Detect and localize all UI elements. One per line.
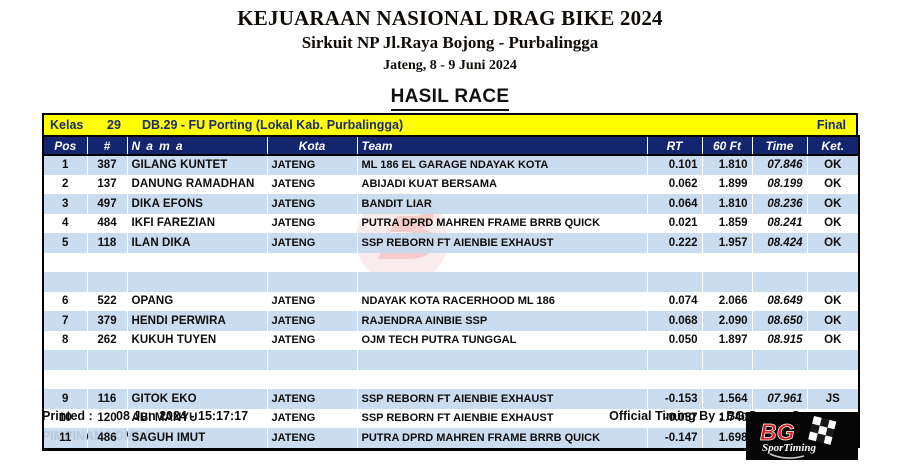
cell-kota: JATENG xyxy=(267,428,357,448)
cell-pos: 8 xyxy=(43,331,87,351)
class-stage-badge: Final xyxy=(817,118,856,132)
cell-rt: 0.068 xyxy=(647,311,702,331)
cell-ket: OK xyxy=(807,331,859,351)
cell-time: 08.649 xyxy=(752,292,807,312)
cell-ft60: 1.897 xyxy=(702,331,752,351)
column-header-team[interactable]: Team xyxy=(357,136,647,155)
cell-pos: 4 xyxy=(43,214,87,234)
cell-team: NDAYAK KOTA RACERHOOD ML 186 xyxy=(357,292,647,312)
cell-team: OJM TECH PUTRA TUNGGAL xyxy=(357,331,647,351)
column-header-num[interactable]: # xyxy=(87,136,127,155)
results-sheet: Kelas 29 DB.29 - FU Porting (Lokal Kab. … xyxy=(42,113,858,451)
cell-time: 08.424 xyxy=(752,233,807,253)
cell-rt xyxy=(647,272,702,292)
cell-time: 08.241 xyxy=(752,214,807,234)
cell-rt: 0.222 xyxy=(647,233,702,253)
cell-num: 522 xyxy=(87,292,127,312)
event-date: Jateng, 8 - 9 Juni 2024 xyxy=(0,57,900,75)
cell-kota: JATENG xyxy=(267,155,357,175)
cell-pos: 5 xyxy=(43,233,87,253)
cell-time: 08.650 xyxy=(752,311,807,331)
cell-name: GITOK EKO xyxy=(127,389,267,409)
cell-ket xyxy=(807,253,859,273)
cell-time xyxy=(752,350,807,370)
cell-team: RAJENDRA AINBIE SSP xyxy=(357,311,647,331)
cell-kota: JATENG xyxy=(267,409,357,429)
cell-ft60 xyxy=(702,350,752,370)
document-header: KEJUARAAN NASIONAL DRAG BIKE 2024 Sirkui… xyxy=(0,0,900,111)
cell-num: 262 xyxy=(87,331,127,351)
cell-ket: OK xyxy=(807,214,859,234)
cell-team: ML 186 EL GARAGE NDAYAK KOTA xyxy=(357,155,647,175)
cell-num: 497 xyxy=(87,194,127,214)
class-number: 29 xyxy=(94,118,134,132)
table-row[interactable]: 9116GITOK EKOJATENGSSP REBORN FT AIENBIE… xyxy=(43,389,859,409)
cell-kota: JATENG xyxy=(267,214,357,234)
table-row[interactable]: 11486SAGUH IMUTJATENGPUTRA DPRD MAHREN F… xyxy=(43,428,859,448)
column-header-pos[interactable]: Pos xyxy=(43,136,87,155)
table-row[interactable]: 10120ABI MANYUJATENGSSP REBORN FT AIENBI… xyxy=(43,409,859,429)
cell-name xyxy=(127,350,267,370)
cell-name xyxy=(127,272,267,292)
cell-team xyxy=(357,370,647,390)
cell-name xyxy=(127,253,267,273)
cell-ket xyxy=(807,272,859,292)
table-bottom-border xyxy=(42,448,858,451)
cell-num xyxy=(87,272,127,292)
cell-ket: JS xyxy=(807,389,859,409)
cell-ft60: 2.090 xyxy=(702,311,752,331)
cell-time: 07.846 xyxy=(752,155,807,175)
cell-ket: OK xyxy=(807,194,859,214)
cell-rt: 0.074 xyxy=(647,292,702,312)
cell-kota: JATENG xyxy=(267,233,357,253)
cell-pos xyxy=(43,253,87,273)
cell-kota: JATENG xyxy=(267,311,357,331)
cell-pos xyxy=(43,272,87,292)
column-header-rt[interactable]: RT xyxy=(647,136,702,155)
results-table: Pos # N a m a Kota Team RT 60 Ft Time Ke… xyxy=(42,135,860,448)
cell-pos: 6 xyxy=(43,292,87,312)
cell-num: 120 xyxy=(87,409,127,429)
cell-num: 387 xyxy=(87,155,127,175)
cell-time xyxy=(752,370,807,390)
cell-kota xyxy=(267,253,357,273)
cell-time: 08.236 xyxy=(752,194,807,214)
cell-name: DIKA EFONS xyxy=(127,194,267,214)
cell-name: IKFI FAREZIAN xyxy=(127,214,267,234)
table-row[interactable]: 8262KUKUH TUYENJATENGOJM TECH PUTRA TUNG… xyxy=(43,331,859,351)
cell-pos: 1 xyxy=(43,155,87,175)
cell-num xyxy=(87,253,127,273)
cell-time: 07.961 xyxy=(752,389,807,409)
table-spacer-row xyxy=(43,272,859,292)
cell-ft60 xyxy=(702,272,752,292)
section-title: HASIL RACE xyxy=(391,86,510,111)
cell-ket: OK xyxy=(807,233,859,253)
table-row[interactable]: 2137DANUNG RAMADHANJATENGABIJADI KUAT BE… xyxy=(43,175,859,195)
class-label: Kelas xyxy=(44,118,94,132)
cell-pos xyxy=(43,350,87,370)
page-title: KEJUARAAN NASIONAL DRAG BIKE 2024 xyxy=(0,6,900,30)
table-spacer-row xyxy=(43,370,859,390)
table-header-row: Pos # N a m a Kota Team RT 60 Ft Time Ke… xyxy=(43,136,859,155)
cell-num: 379 xyxy=(87,311,127,331)
cell-ket: OK xyxy=(807,175,859,195)
cell-num: 118 xyxy=(87,233,127,253)
cell-team: PUTRA DPRD MAHREN FRAME BRRB QUICK xyxy=(357,214,647,234)
cell-pos: 2 xyxy=(43,175,87,195)
cell-num: 137 xyxy=(87,175,127,195)
cell-ft60: 2.066 xyxy=(702,292,752,312)
cell-ket: OK xyxy=(807,292,859,312)
cell-team xyxy=(357,272,647,292)
cell-ket: OK xyxy=(807,155,859,175)
cell-rt: 0.021 xyxy=(647,214,702,234)
cell-rt: 0.050 xyxy=(647,331,702,351)
cell-pos xyxy=(43,370,87,390)
column-header-ket[interactable]: Ket. xyxy=(807,136,859,155)
cell-ft60: 1.810 xyxy=(702,155,752,175)
cell-team xyxy=(357,253,647,273)
cell-name: ILAN DIKA xyxy=(127,233,267,253)
table-row[interactable]: 5118ILAN DIKAJATENGSSP REBORN FT AIENBIE… xyxy=(43,233,859,253)
table-row[interactable]: 6522OPANGJATENGNDAYAK KOTA RACERHOOD ML … xyxy=(43,292,859,312)
bg-sportiming-logo: BG SporTiming xyxy=(746,412,858,460)
cell-team: PUTRA DPRD MAHREN FRAME BRRB QUICK xyxy=(357,428,647,448)
cell-ket xyxy=(807,370,859,390)
cell-team: BANDIT LIAR xyxy=(357,194,647,214)
table-row[interactable]: 1387GILANG KUNTETJATENGML 186 EL GARAGE … xyxy=(43,155,859,175)
cell-pos: 9 xyxy=(43,389,87,409)
cell-team xyxy=(357,350,647,370)
column-header-60ft[interactable]: 60 Ft xyxy=(702,136,752,155)
cell-rt: 0.101 xyxy=(647,155,702,175)
table-body: 1387GILANG KUNTETJATENGML 186 EL GARAGE … xyxy=(43,155,859,448)
column-header-name[interactable]: N a m a xyxy=(127,136,267,155)
cell-ft60: 1.740 xyxy=(702,409,752,429)
table-row[interactable]: 4484IKFI FAREZIANJATENGPUTRA DPRD MAHREN… xyxy=(43,214,859,234)
cell-ft60: 1.899 xyxy=(702,175,752,195)
cell-ket: OK xyxy=(807,311,859,331)
cell-name: ABI MANYU xyxy=(127,409,267,429)
cell-num: 486 xyxy=(87,428,127,448)
cell-time xyxy=(752,253,807,273)
cell-ft60 xyxy=(702,370,752,390)
cell-pos: 3 xyxy=(43,194,87,214)
cell-rt xyxy=(647,253,702,273)
cell-kota: JATENG xyxy=(267,175,357,195)
cell-team: SSP REBORN FT AIENBIE EXHAUST xyxy=(357,233,647,253)
svg-text:SporTiming: SporTiming xyxy=(762,442,816,454)
cell-rt: 0.062 xyxy=(647,175,702,195)
class-bar: Kelas 29 DB.29 - FU Porting (Lokal Kab. … xyxy=(42,113,858,135)
cell-kota: JATENG xyxy=(267,292,357,312)
cell-kota xyxy=(267,370,357,390)
cell-ft60: 1.859 xyxy=(702,214,752,234)
cell-kota xyxy=(267,350,357,370)
cell-num: 484 xyxy=(87,214,127,234)
class-description: DB.29 - FU Porting (Lokal Kab. Purbaling… xyxy=(134,118,817,132)
cell-kota: JATENG xyxy=(267,194,357,214)
cell-time xyxy=(752,272,807,292)
cell-kota: JATENG xyxy=(267,389,357,409)
cell-ft60: 1.564 xyxy=(702,389,752,409)
cell-kota xyxy=(267,272,357,292)
cell-time: 08.199 xyxy=(752,175,807,195)
table-row[interactable]: 3497DIKA EFONSJATENGBANDIT LIAR0.0641.81… xyxy=(43,194,859,214)
event-venue: Sirkuit NP Jl.Raya Bojong - Purbalingga xyxy=(0,32,900,54)
cell-time: 08.915 xyxy=(752,331,807,351)
cell-rt xyxy=(647,370,702,390)
cell-num xyxy=(87,350,127,370)
cell-pos: 10 xyxy=(43,409,87,429)
cell-rt: 0.064 xyxy=(647,194,702,214)
cell-num xyxy=(87,370,127,390)
cell-name: OPANG xyxy=(127,292,267,312)
cell-name: HENDI PERWIRA xyxy=(127,311,267,331)
column-header-time[interactable]: Time xyxy=(752,136,807,155)
table-header: Pos # N a m a Kota Team RT 60 Ft Time Ke… xyxy=(43,136,859,155)
cell-name xyxy=(127,370,267,390)
cell-team: SSP REBORN FT AIENBIE EXHAUST xyxy=(357,389,647,409)
table-spacer-row xyxy=(43,350,859,370)
cell-kota: JATENG xyxy=(267,331,357,351)
cell-rt: -0.147 xyxy=(647,428,702,448)
cell-num: 116 xyxy=(87,389,127,409)
cell-rt: -0.057 xyxy=(647,409,702,429)
cell-team: ABIJADI KUAT BERSAMA xyxy=(357,175,647,195)
cell-ket xyxy=(807,350,859,370)
cell-team: SSP REBORN FT AIENBIE EXHAUST xyxy=(357,409,647,429)
cell-rt: -0.153 xyxy=(647,389,702,409)
table-spacer-row xyxy=(43,253,859,273)
column-header-kota[interactable]: Kota xyxy=(267,136,357,155)
cell-ft60: 1.698 xyxy=(702,428,752,448)
cell-ft60: 1.957 xyxy=(702,233,752,253)
cell-name: GILANG KUNTET xyxy=(127,155,267,175)
cell-pos: 11 xyxy=(43,428,87,448)
cell-ft60 xyxy=(702,253,752,273)
cell-name: KUKUH TUYEN xyxy=(127,331,267,351)
cell-ft60: 1.810 xyxy=(702,194,752,214)
cell-name: SAGUH IMUT xyxy=(127,428,267,448)
cell-rt xyxy=(647,350,702,370)
cell-pos: 7 xyxy=(43,311,87,331)
cell-name: DANUNG RAMADHAN xyxy=(127,175,267,195)
table-row[interactable]: 7379HENDI PERWIRAJATENGRAJENDRA AINBIE S… xyxy=(43,311,859,331)
